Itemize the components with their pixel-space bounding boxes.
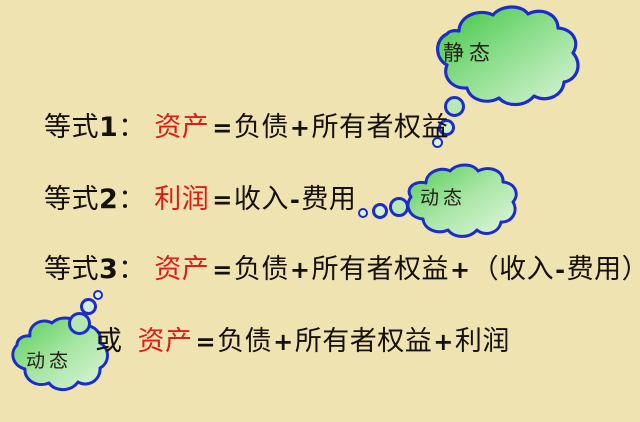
- thought-cloud-dynamic-middle: 动态: [396, 161, 522, 241]
- equation-1-equals: =: [211, 114, 234, 142]
- cloud-dynamic-middle-shape: [396, 161, 522, 241]
- equation-3-subject: 资产: [152, 254, 211, 285]
- equation-3-inner-op: -: [554, 256, 566, 284]
- equation-2-term-2: 费用: [301, 184, 356, 215]
- equation-4-equals: =: [195, 328, 218, 356]
- equation-2-row: 等式2：利润=收入-费用: [44, 186, 356, 213]
- equation-4-row: 或资产=负债+所有者权益+利润: [95, 328, 510, 355]
- equation-1-label: 等式: [44, 112, 99, 143]
- equation-4-term-2: 所有者权益: [295, 326, 433, 357]
- equation-2-number: 2: [99, 184, 118, 215]
- equation-2-subject: 利润: [152, 184, 211, 215]
- thought-bubble-dyn-bot-3: [93, 290, 103, 300]
- equation-3-equals: =: [211, 256, 234, 284]
- equation-3-inner-term-1: 收入: [499, 254, 554, 285]
- equation-4-subject: 资产: [136, 326, 195, 357]
- equation-1-row: 等式1：资产=负债+所有者权益: [44, 114, 449, 141]
- thought-bubble-dyn-mid-3: [358, 208, 368, 218]
- equation-1-term-2: 所有者权益: [312, 112, 450, 143]
- thought-bubble-dyn-mid-2: [372, 203, 388, 219]
- equation-4-label: 或: [95, 326, 123, 357]
- equation-4-term-1: 负债: [217, 326, 272, 357]
- thought-bubble-dyn-bot-1: [68, 312, 91, 335]
- equation-2-term-1: 收入: [234, 184, 289, 215]
- equation-3-inner-term-2: 费用: [567, 254, 622, 285]
- equation-3-label: 等式: [44, 254, 99, 285]
- equation-1-op-1: +: [289, 114, 312, 142]
- equation-4-term-3: 利润: [455, 326, 510, 357]
- equation-3-op-2: +: [449, 256, 472, 284]
- equation-3-paren-close: ）: [622, 254, 640, 285]
- thought-cloud-static: 静态: [415, 4, 585, 124]
- equation-2-op-1: -: [289, 186, 301, 214]
- equation-3-term-1: 负债: [234, 254, 289, 285]
- equation-1-number: 1: [99, 112, 118, 143]
- equation-2-equals: =: [211, 186, 234, 214]
- equation-3-number: 3: [99, 254, 118, 285]
- equation-3-term-2: 所有者权益: [312, 254, 450, 285]
- equation-1-term-1: 负债: [234, 112, 289, 143]
- equation-2-colon: ：: [118, 184, 145, 215]
- equation-2-label: 等式: [44, 184, 99, 215]
- thought-bubble-dyn-mid-1: [389, 197, 409, 217]
- equation-3-paren-open: （: [472, 254, 500, 285]
- equation-4-op-2: +: [432, 328, 455, 356]
- equation-3-colon: ：: [118, 254, 145, 285]
- cloud-static-shape: [415, 4, 585, 124]
- slide-canvas: 静态 动态: [0, 0, 640, 422]
- equation-4-op-1: +: [272, 328, 295, 356]
- equation-1-colon: ：: [118, 112, 145, 143]
- thought-bubble-dyn-bot-2: [80, 298, 97, 315]
- equation-3-row: 等式3：资产=负债+所有者权益+（收入-费用）: [44, 256, 640, 283]
- equation-3-op-1: +: [289, 256, 312, 284]
- equation-1-subject: 资产: [152, 112, 211, 143]
